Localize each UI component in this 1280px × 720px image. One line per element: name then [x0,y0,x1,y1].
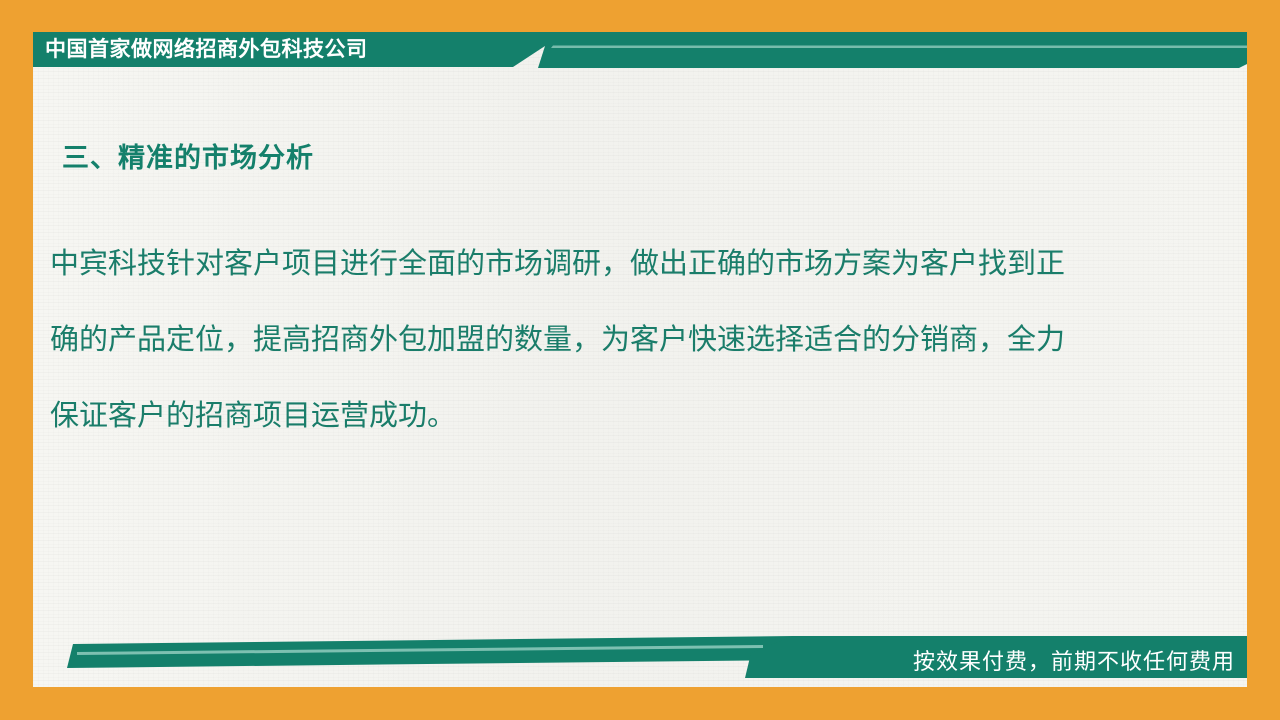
footer-tagline: 按效果付费，前期不收任何费用 [913,645,1235,679]
page-title: 三、精准的市场分析 [62,136,314,175]
header-band-tail [538,46,1247,68]
header-title: 中国首家做网络招商外包科技公司 [45,33,368,66]
paragraph-line-2: 确的产品定位，提高招商外包加盟的数量，为客户快速选择适合的分销商，全力 [50,302,1185,378]
paragraph-line-3: 保证客户的招商项目运营成功。 [50,378,1185,454]
paragraph-line-1: 中宾科技针对客户项目进行全面的市场调研，做出正确的市场方案为客户找到正 [50,226,1185,302]
header-divider-line [551,46,1247,49]
slide-root: 中国首家做网络招商外包科技公司 三、精准的市场分析 中宾科技针对客户项目进行全面… [0,0,1280,720]
body-paragraph: 中宾科技针对客户项目进行全面的市场调研，做出正确的市场方案为客户找到正 确的产品… [50,226,1185,454]
